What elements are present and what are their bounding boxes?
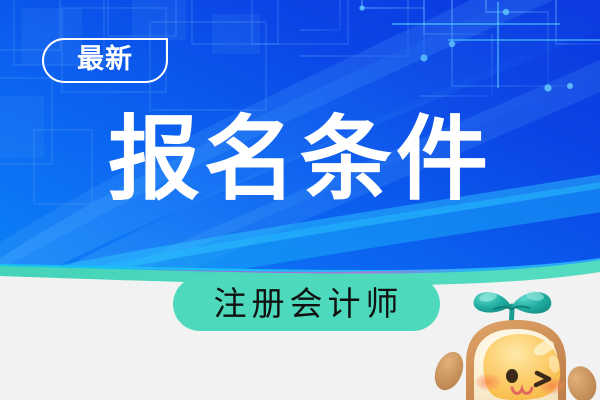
promo-banner: 最新 报名条件 注册会计师 <box>0 0 600 400</box>
bread-mascot <box>432 276 600 400</box>
subtitle-pill: 注册会计师 <box>173 277 440 331</box>
mascot-right-arm <box>564 363 600 400</box>
new-badge-label: 最新 <box>77 46 133 73</box>
new-badge: 最新 <box>42 38 168 83</box>
mascot-left-eye <box>506 369 518 383</box>
mascot-left-blush <box>474 373 502 391</box>
page-title: 报名条件 <box>0 112 600 208</box>
bread-mascot-svg <box>432 276 600 400</box>
subtitle-label: 注册会计师 <box>214 287 404 320</box>
mascot-left-arm <box>432 348 469 395</box>
